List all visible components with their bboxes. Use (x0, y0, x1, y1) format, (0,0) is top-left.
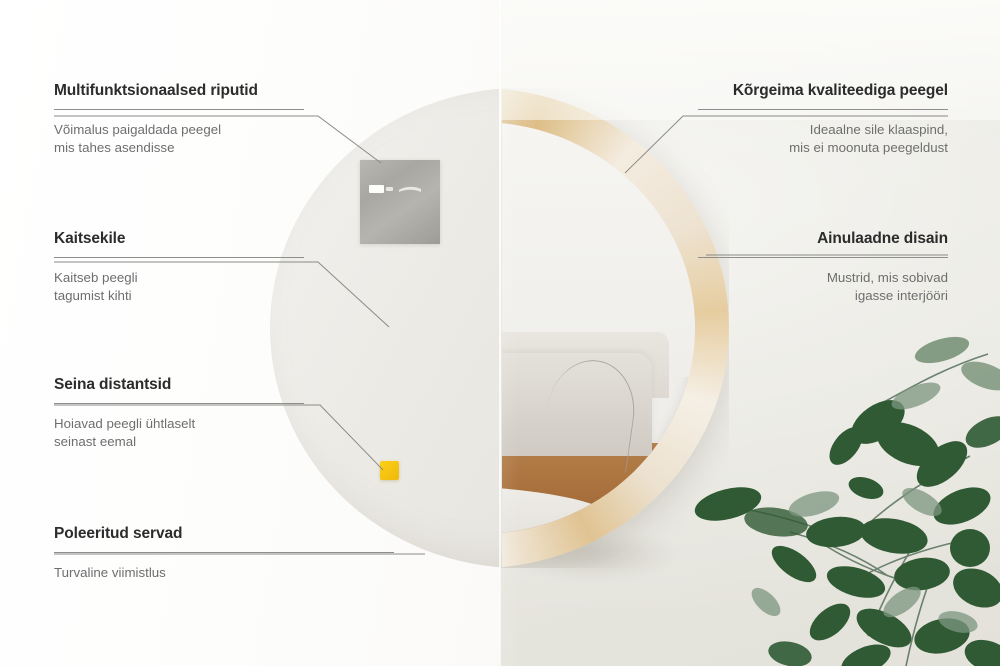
feature-rule (54, 109, 304, 110)
feature-block-highest-quality-mirror: Kõrgeima kvaliteediga peegel Ideaalne si… (698, 82, 948, 156)
feature-rule (698, 257, 948, 258)
feature-desc: Hoiavad peegli ühtlaselt seinast eemal (54, 415, 304, 450)
feature-desc: Turvaline viimistlus (54, 564, 394, 582)
feature-rule (54, 403, 304, 404)
feature-block-multifunction-hangers: Multifunktsionaalsed riputid Võimalus pa… (54, 82, 304, 156)
feature-title: Kõrgeima kvaliteediga peegel (698, 82, 948, 100)
feature-block-unique-design: Ainulaadne disain Mustrid, mis sobivad i… (698, 230, 948, 304)
feature-title: Multifunktsionaalsed riputid (54, 82, 304, 100)
mirror-marble-frame (497, 88, 729, 568)
feature-title: Kaitsekile (54, 230, 304, 248)
hanger-slot-icon (369, 182, 427, 193)
feature-block-wall-spacers: Seina distantsid Hoiavad peegli ühtlasel… (54, 376, 304, 450)
feature-rule (698, 109, 948, 110)
feature-block-protective-film: Kaitsekile Kaitseb peegli tagumist kihti (54, 230, 304, 304)
mirror-hanger-plate (360, 160, 440, 244)
feature-block-polished-edges: Poleeritud servad Turvaline viimistlus (54, 525, 394, 582)
feature-desc: Kaitseb peegli tagumist kihti (54, 269, 304, 304)
feature-title: Ainulaadne disain (698, 230, 948, 248)
feature-desc: Ideaalne sile klaaspind, mis ei moonuta … (698, 121, 948, 156)
mirror-glass-reflection (497, 122, 695, 534)
feature-title: Seina distantsid (54, 376, 304, 394)
infographic-stage: Multifunktsionaalsed riputid Võimalus pa… (0, 0, 1000, 666)
feature-rule (54, 257, 304, 258)
feature-desc: Võimalus paigaldada peegel mis tahes ase… (54, 121, 304, 156)
feature-desc: Mustrid, mis sobivad igasse interjööri (698, 269, 948, 304)
panel-divider (499, 0, 501, 666)
yellow-wall-spacer-chip (380, 461, 399, 480)
feature-title: Poleeritud servad (54, 525, 394, 543)
mirror-lifestyle-view (497, 88, 729, 568)
feature-rule (54, 552, 394, 553)
